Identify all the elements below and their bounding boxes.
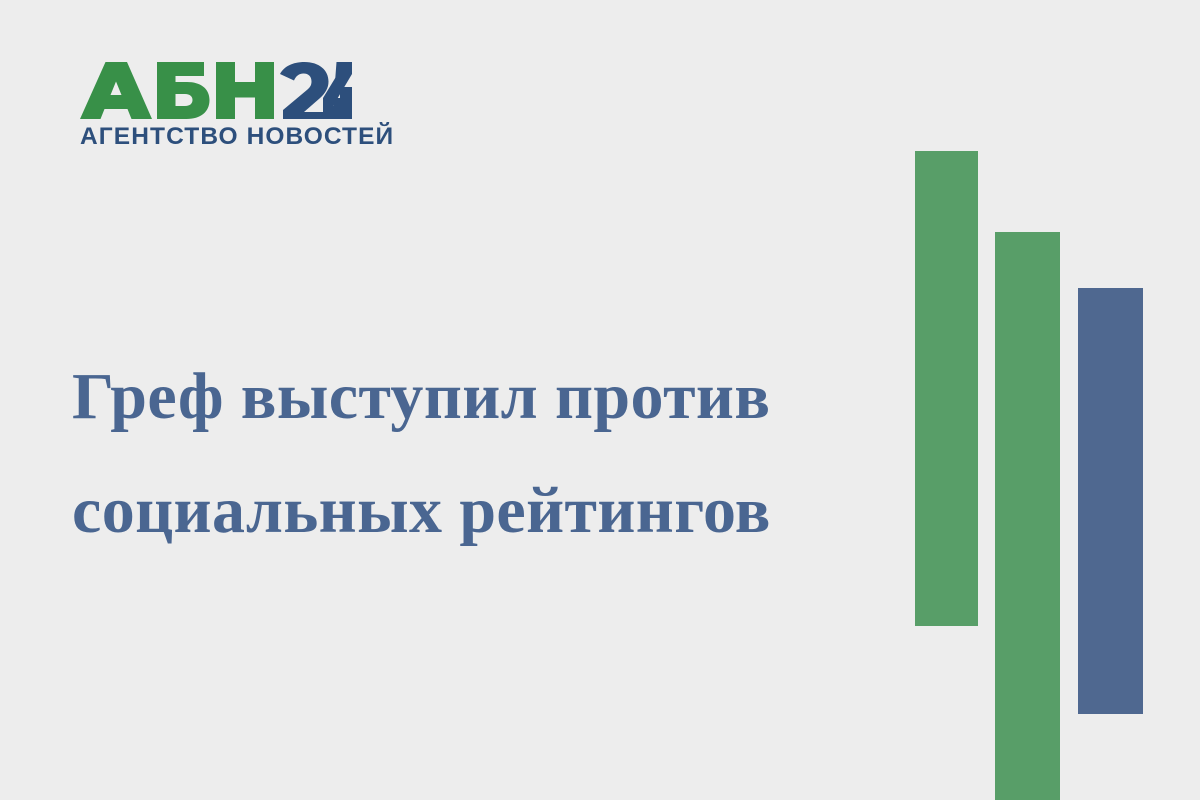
logo-tagline: АГЕНТСТВО НОВОСТЕЙ	[80, 125, 370, 150]
news-card: АГЕНТСТВО НОВОСТЕЙ Греф выступил против …	[0, 0, 1200, 800]
logo[interactable]: АГЕНТСТВО НОВОСТЕЙ	[80, 62, 370, 150]
headline-line-2: социальных рейтингов	[72, 454, 872, 568]
headline: Греф выступил против социальных рейтинго…	[72, 340, 872, 567]
chart-bar-3	[1078, 288, 1143, 714]
chart-bar-2	[995, 232, 1060, 800]
headline-line-1: Греф выступил против	[72, 340, 872, 454]
abn24-wordmark-icon	[80, 62, 352, 119]
chart-bar-1	[915, 151, 978, 626]
